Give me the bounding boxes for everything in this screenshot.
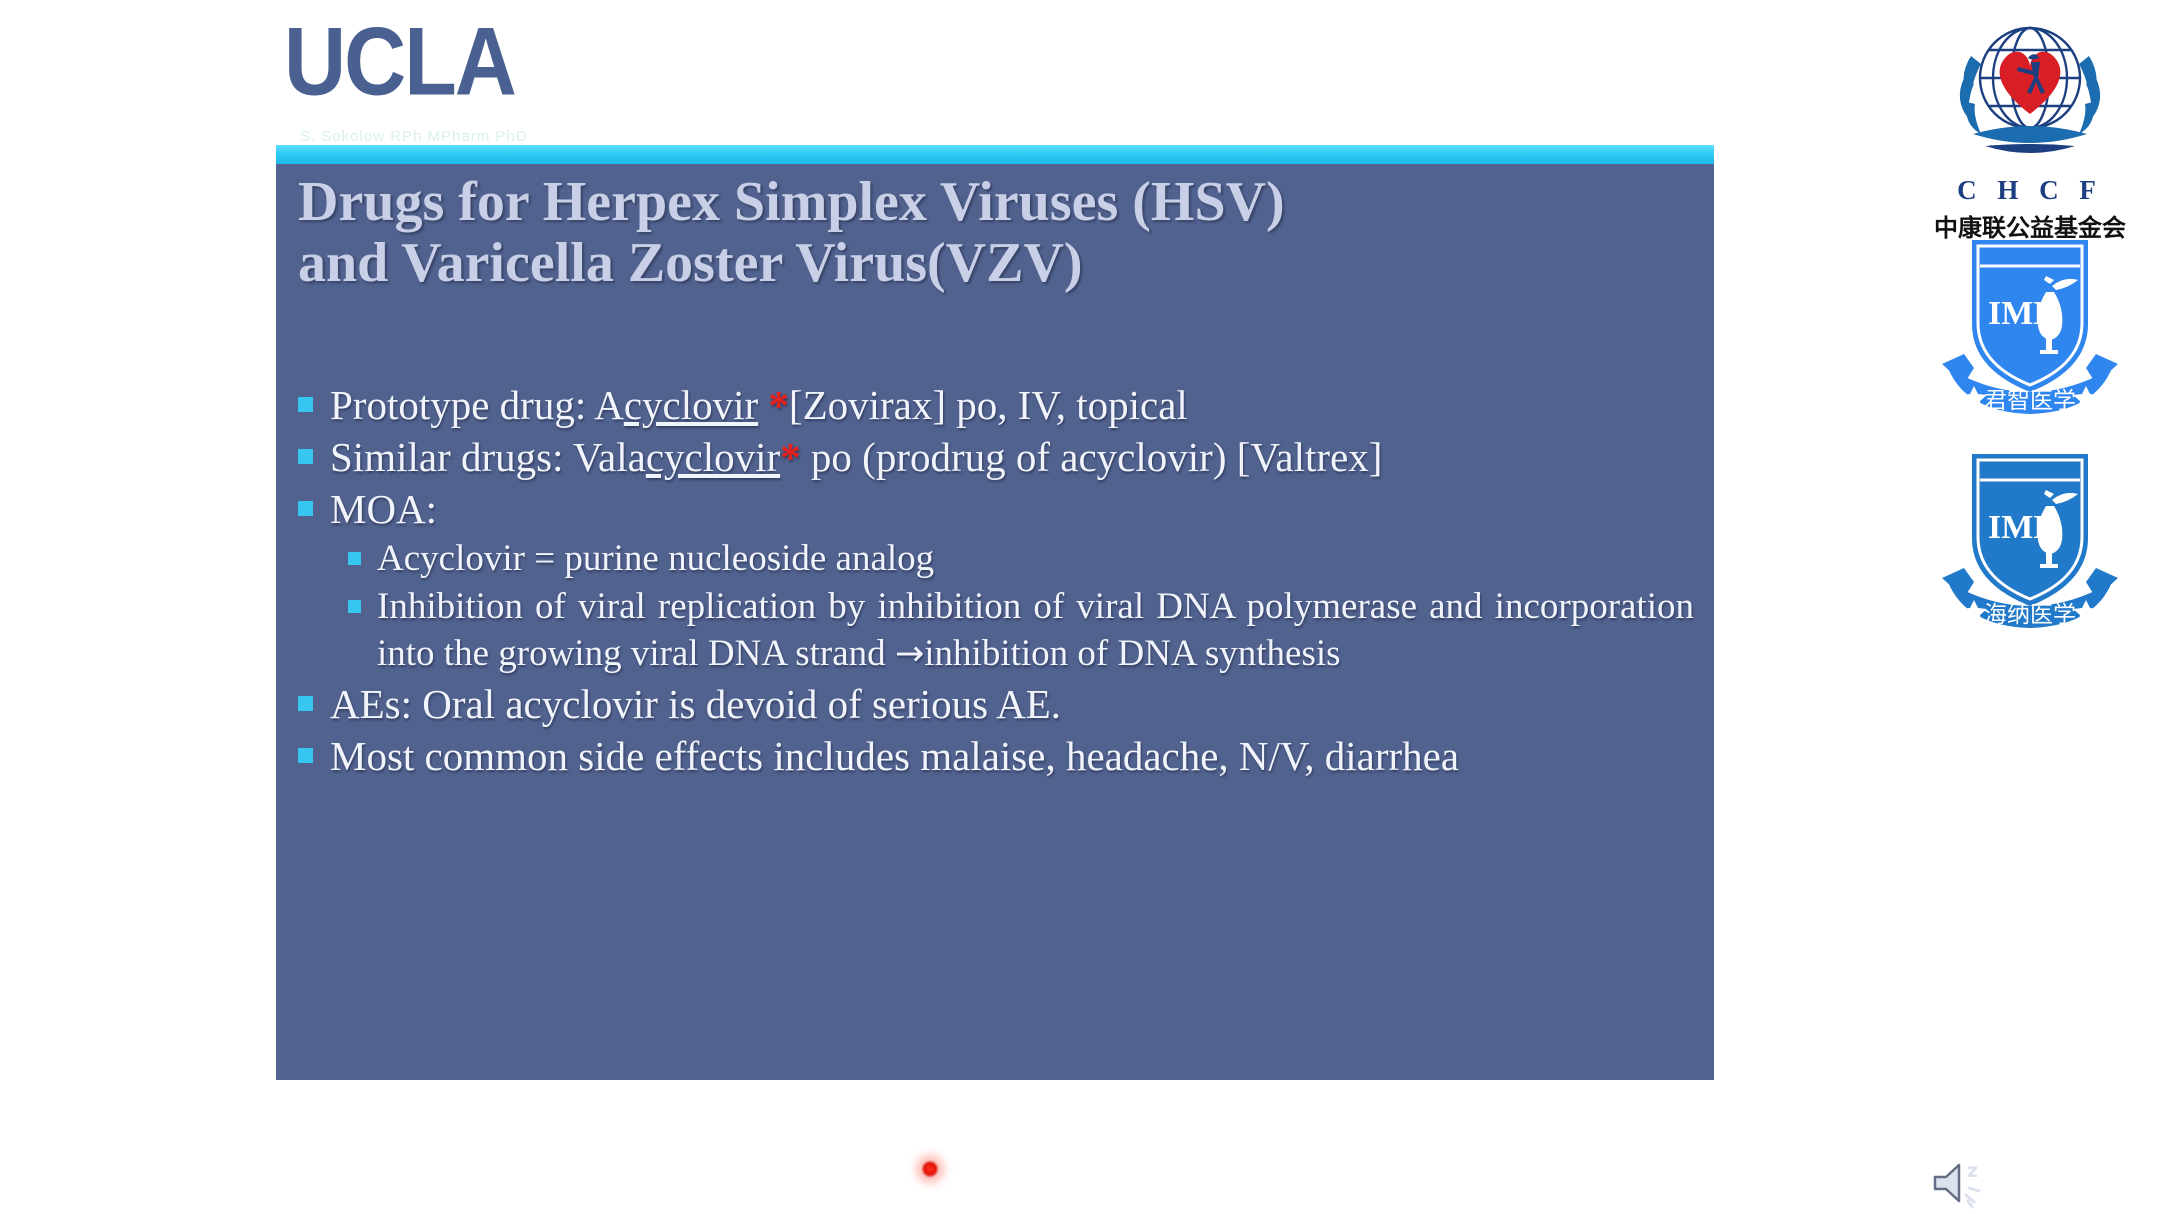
footnote-asterisk: * bbox=[780, 434, 801, 480]
bullet-item: Inhibition of viral replication by inhib… bbox=[298, 584, 1694, 677]
text-run: [Zovirax] po, IV, topical bbox=[789, 382, 1188, 428]
bullet-marker-icon bbox=[298, 501, 313, 516]
text-run bbox=[758, 382, 768, 428]
slide-title: Drugs for Herpex Simplex Viruses (HSV) a… bbox=[298, 172, 1598, 294]
chcf-logo: C H C F 中康联公益基金会 bbox=[1900, 6, 2160, 243]
bullet-item: Prototype drug: Acyclovir *[Zovirax] po,… bbox=[298, 380, 1694, 430]
bullet-marker-icon bbox=[348, 552, 361, 565]
imd-shield-icon: IMD 君智医学 bbox=[1930, 228, 2130, 418]
imd-junzhi-logo: IMD 君智医学 bbox=[1900, 228, 2160, 423]
chcf-abbreviation: C H C F bbox=[1900, 175, 2160, 206]
chcf-emblem-icon bbox=[1915, 6, 2145, 174]
laser-pointer-dot bbox=[921, 1160, 939, 1178]
slide-bullet-list: Prototype drug: Acyclovir *[Zovirax] po,… bbox=[298, 380, 1694, 783]
bullet-item: Similar drugs: Valacyclovir* po (prodrug… bbox=[298, 432, 1694, 482]
ucla-wordmark: UCLA bbox=[276, 14, 576, 110]
bullet-text: Acyclovir = purine nucleoside analog bbox=[377, 536, 1694, 582]
presenter-credit: S. Sokolow RPh MPharm PhD bbox=[300, 128, 528, 145]
bullet-text: Inhibition of viral replication by inhib… bbox=[377, 584, 1694, 677]
text-run: po (prodrug of acyclovir) [Valtrex] bbox=[801, 434, 1383, 480]
text-run: Most common side effects includes malais… bbox=[330, 733, 1459, 779]
imd-haina-chinese-name: 海纳医学 bbox=[1984, 602, 2076, 628]
underlined-text: cyclovir bbox=[646, 434, 780, 480]
bullet-marker-icon bbox=[348, 600, 361, 613]
text-run: Acyclovir = purine nucleoside analog bbox=[377, 538, 934, 579]
slide-title-line-2: and Varicella Zoster Virus(VZV) bbox=[298, 233, 1598, 294]
svg-text:z: z bbox=[1967, 1160, 1978, 1182]
slide-accent-bar bbox=[276, 145, 1714, 164]
bullet-text: Prototype drug: Acyclovir *[Zovirax] po,… bbox=[330, 380, 1694, 430]
bullet-item: Most common side effects includes malais… bbox=[298, 731, 1694, 781]
ucla-header: UCLA S. Sokolow RPh MPharm PhD bbox=[276, 14, 576, 142]
bullet-marker-icon bbox=[298, 449, 313, 464]
text-run: MOA: bbox=[330, 486, 437, 532]
bullet-text: AEs: Oral acyclovir is devoid of serious… bbox=[330, 679, 1694, 729]
bullet-marker-icon bbox=[298, 696, 313, 711]
bullet-text: MOA: bbox=[330, 484, 1694, 534]
bullet-marker-icon bbox=[298, 748, 313, 763]
underlined-text: cyclovir bbox=[624, 382, 758, 428]
imd-haina-logo: IMD 海纳医学 bbox=[1900, 442, 2160, 637]
slide-title-line-1: Drugs for Herpex Simplex Viruses (HSV) bbox=[298, 172, 1598, 233]
bullet-marker-icon bbox=[298, 397, 313, 412]
bullet-item: AEs: Oral acyclovir is devoid of serious… bbox=[298, 679, 1694, 729]
text-run: Prototype drug: A bbox=[330, 382, 624, 428]
bullet-item: MOA: bbox=[298, 484, 1694, 534]
logo-sidebar: C H C F 中康联公益基金会 IMD 君智医学 bbox=[1900, 0, 2160, 1080]
text-run: Similar drugs: Vala bbox=[330, 434, 646, 480]
speaker-icon[interactable]: z bbox=[1931, 1157, 1987, 1209]
imd-junzhi-chinese-name: 君智医学 bbox=[1984, 388, 2076, 414]
bullet-text: Similar drugs: Valacyclovir* po (prodrug… bbox=[330, 432, 1694, 482]
arrow-glyph: → bbox=[895, 634, 924, 674]
text-run: inhibition of DNA synthesis bbox=[924, 633, 1340, 674]
imd-shield-icon: IMD 海纳医学 bbox=[1930, 442, 2130, 632]
presentation-slide: Drugs for Herpex Simplex Viruses (HSV) a… bbox=[276, 145, 1714, 1080]
bullet-item: Acyclovir = purine nucleoside analog bbox=[298, 536, 1694, 582]
text-run: AEs: Oral acyclovir is devoid of serious… bbox=[330, 681, 1061, 727]
footnote-asterisk: * bbox=[768, 382, 789, 428]
bullet-text: Most common side effects includes malais… bbox=[330, 731, 1694, 781]
